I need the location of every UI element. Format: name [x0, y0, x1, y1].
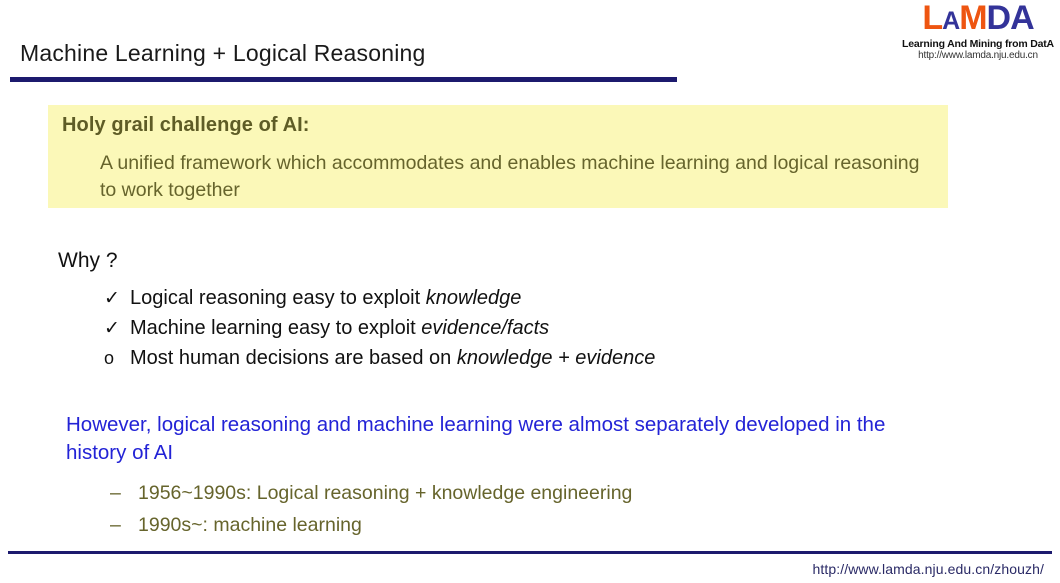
list-item: ✓ Logical reasoning easy to exploit know… — [104, 283, 655, 313]
why-list: ✓ Logical reasoning easy to exploit know… — [104, 283, 655, 373]
list-item-text: Most human decisions are based on — [130, 347, 457, 369]
list-item-label: 1990s~: machine learning — [138, 509, 362, 541]
statement-paragraph: However, logical reasoning and machine l… — [66, 411, 896, 467]
logo-letter-l: L — [922, 0, 942, 37]
logo-url: http://www.lamda.nju.edu.cn — [902, 51, 1054, 61]
logo-letter-a2: A — [1010, 0, 1034, 37]
highlight-body: A unified framework which accommodates a… — [100, 150, 935, 204]
list-item: – 1956~1990s: Logical reasoning + knowle… — [110, 477, 632, 509]
list-item-emphasis: evidence/facts — [421, 317, 549, 339]
footer-divider — [8, 551, 1052, 554]
lamda-wordmark: LAMDA — [902, 2, 1054, 37]
list-item-label: Machine learning easy to exploit evidenc… — [130, 313, 549, 343]
logo-letter-d: D — [987, 0, 1011, 37]
dash-bullet-icon: – — [110, 509, 138, 541]
title-divider — [10, 77, 677, 82]
highlight-heading: Holy grail challenge of AI: — [62, 114, 310, 137]
logo-letter-a1: A — [942, 7, 959, 35]
highlight-box: Holy grail challenge of AI: A unified fr… — [48, 105, 948, 208]
list-item-text: Machine learning easy to exploit — [130, 317, 421, 339]
list-item: ✓ Machine learning easy to exploit evide… — [104, 313, 655, 343]
slide: LAMDA Learning And Mining from DatA http… — [0, 0, 1060, 583]
list-item: – 1990s~: machine learning — [110, 509, 632, 541]
list-item-label: 1956~1990s: Logical reasoning + knowledg… — [138, 477, 632, 509]
timeline-list: – 1956~1990s: Logical reasoning + knowle… — [110, 477, 632, 541]
check-mark-icon: ✓ — [104, 284, 130, 314]
check-mark-icon: ✓ — [104, 314, 130, 344]
list-item-text: Logical reasoning easy to exploit — [130, 287, 426, 309]
open-circle-icon: o — [104, 343, 130, 373]
dash-bullet-icon: – — [110, 477, 138, 509]
lamda-logo: LAMDA Learning And Mining from DatA http… — [902, 2, 1054, 61]
footer-url: http://www.lamda.nju.edu.cn/zhouzh/ — [812, 561, 1044, 577]
why-label: Why ? — [58, 249, 118, 273]
list-item: o Most human decisions are based on know… — [104, 343, 655, 373]
list-item-label: Logical reasoning easy to exploit knowle… — [130, 283, 521, 313]
logo-letter-m: M — [959, 0, 986, 37]
list-item-emphasis: knowledge — [426, 287, 522, 309]
list-item-emphasis: knowledge + evidence — [457, 347, 655, 369]
page-title: Machine Learning + Logical Reasoning — [20, 40, 426, 67]
logo-tagline: Learning And Mining from DatA — [902, 39, 1054, 50]
list-item-label: Most human decisions are based on knowle… — [130, 343, 655, 373]
